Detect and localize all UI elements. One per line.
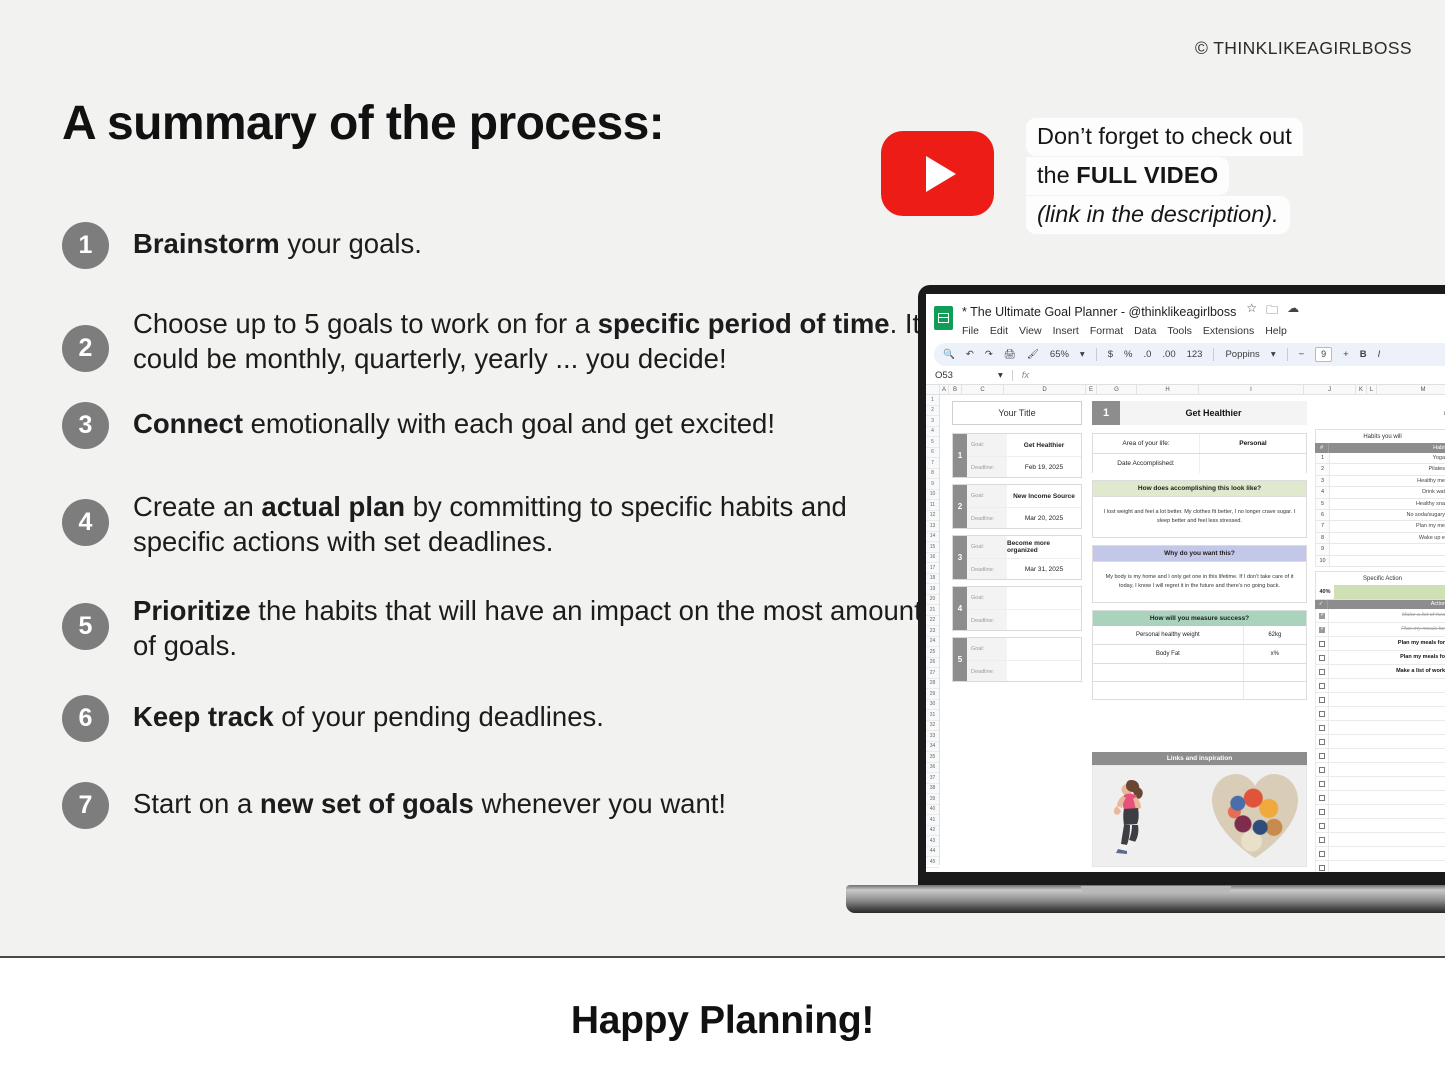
action-row[interactable] (1315, 735, 1445, 749)
action-checkbox[interactable] (1319, 767, 1325, 773)
actions-progress-bar (1334, 585, 1445, 599)
habit-row[interactable]: 1Yoga (1315, 453, 1445, 464)
action-text: Plan my meals for (1329, 637, 1445, 650)
deadline-value[interactable] (1007, 609, 1081, 631)
menu-bar: File Edit View Insert Format Data Tools … (962, 325, 1299, 337)
action-text: Plan my meals for (1329, 623, 1445, 636)
metric-name[interactable]: Personal healthy weight (1093, 626, 1243, 644)
habit-row[interactable]: 5Healthy sna (1315, 499, 1445, 510)
deadline-value[interactable]: Mar 31, 2025 (1007, 558, 1081, 580)
runner-illustration-icon (1107, 778, 1151, 858)
step-text-7: Start on a new set of goals whenever you… (133, 782, 726, 821)
habit-name (1330, 556, 1445, 566)
goal-value[interactable]: Become more organized (1007, 536, 1081, 558)
row-header-3[interactable]: 3 (926, 416, 939, 427)
paint-format-icon[interactable]: 🖌 (1027, 349, 1039, 360)
laptop-trackpad-notch (1081, 886, 1231, 893)
question-3-header: How will you measure success? (1092, 610, 1307, 626)
goal-value[interactable]: New Income Source (1007, 485, 1081, 507)
goal-card-3[interactable]: 3 Goal: Deadline: Become more organized … (952, 535, 1082, 580)
font-size-input[interactable]: 9 (1315, 347, 1332, 362)
menu-extensions[interactable]: Extensions (1203, 325, 1254, 337)
question-2-answer[interactable]: My body is my home and I only get one in… (1092, 561, 1307, 603)
step-number-2: 2 (62, 325, 109, 372)
area-of-life-label: Area of your life: (1093, 434, 1199, 453)
row-header-43[interactable]: 43 (926, 836, 939, 847)
question-2-header: Why do you want this? (1092, 545, 1307, 561)
action-checkbox[interactable] (1319, 795, 1325, 801)
step-item-3: 3 Connect emotionally with each goal and… (62, 402, 942, 449)
action-row[interactable]: Plan my meals for (1315, 637, 1445, 651)
goal-label: Goal: (967, 536, 1007, 558)
row-header-5[interactable]: 5 (926, 437, 939, 448)
goal-card-number: 3 (953, 536, 967, 579)
goal-card-4[interactable]: 4 Goal: Deadline: (952, 586, 1082, 631)
callout-line-3: (link in the description). (1026, 196, 1290, 234)
cloud-saved-icon[interactable]: ☁ (1287, 301, 1299, 322)
step-number-5: 5 (62, 603, 109, 650)
row-header-23[interactable]: 23 (926, 626, 939, 637)
sheets-title-bar: * The Ultimate Goal Planner - @thinklike… (926, 294, 1445, 337)
name-box-row: O53 ▾ fx (926, 366, 1445, 384)
action-row[interactable] (1315, 707, 1445, 721)
action-text: Make a list of work (1329, 665, 1445, 678)
habit-row[interactable]: 2Pilates (1315, 464, 1445, 475)
page-title: A summary of the process: (62, 96, 664, 151)
decrease-decimal-button[interactable]: .0 (1143, 349, 1151, 360)
habit-row[interactable]: 6No soda/sugary (1315, 510, 1445, 521)
column-header-M[interactable]: M (1377, 385, 1445, 394)
row-header-7[interactable]: 7 (926, 458, 939, 469)
move-to-folder-icon[interactable]: 🗀 (1266, 301, 1278, 322)
sheet-content: Your Title 1 Get Healthier Deadline Days… (940, 395, 1445, 865)
goal-value[interactable] (1007, 587, 1081, 609)
step-text-5: Prioritize the habits that will have an … (133, 589, 933, 663)
decrease-font-size-button[interactable]: − (1299, 349, 1305, 360)
row-header-36[interactable]: 36 (926, 763, 939, 774)
redo-icon[interactable]: ↷ (985, 349, 993, 360)
column-header-E[interactable]: E (1086, 385, 1097, 394)
action-row[interactable] (1315, 763, 1445, 777)
row-header-22[interactable]: 22 (926, 616, 939, 627)
row-header-35[interactable]: 35 (926, 752, 939, 763)
column-header-G[interactable]: G (1097, 385, 1137, 394)
column-header-J[interactable]: J (1304, 385, 1356, 394)
row-header-9[interactable]: 9 (926, 479, 939, 490)
habit-row[interactable]: 4Drink wat (1315, 487, 1445, 498)
callout-line-2: the FULL VIDEO (1026, 157, 1229, 195)
action-checkbox[interactable] (1319, 627, 1325, 633)
metric-row-3[interactable] (1092, 664, 1307, 682)
full-video-emphasis: FULL VIDEO (1076, 162, 1218, 188)
toolbar-divider (1096, 348, 1097, 361)
action-checkbox[interactable] (1319, 725, 1325, 731)
deadline-label: Deadline: (967, 456, 1007, 478)
habit-row[interactable]: 10 (1315, 556, 1445, 567)
row-header-34[interactable]: 34 (926, 742, 939, 753)
menu-insert[interactable]: Insert (1053, 325, 1079, 337)
habit-name: Pilates (1330, 464, 1445, 474)
action-row[interactable] (1315, 819, 1445, 833)
row-header-15[interactable]: 15 (926, 542, 939, 553)
goal-card-number: 2 (953, 485, 967, 528)
action-text (1329, 679, 1445, 692)
sheets-logo-icon (934, 306, 953, 330)
laptop-mockup: * The Ultimate Goal Planner - @thinklike… (846, 285, 1445, 925)
column-headers: A B C D E G H I J K L M (926, 385, 1445, 395)
row-header-1[interactable]: 1 (926, 395, 939, 406)
action-checkbox[interactable] (1319, 711, 1325, 717)
youtube-play-icon[interactable] (881, 131, 994, 216)
your-title-cell[interactable]: Your Title (952, 401, 1082, 425)
actions-panel-title: Specific Action (1315, 571, 1445, 585)
print-icon[interactable]: 🖨 (1004, 349, 1016, 360)
action-checkbox[interactable] (1319, 837, 1325, 843)
row-header-45[interactable]: 45 (926, 857, 939, 868)
row-header-32[interactable]: 32 (926, 721, 939, 732)
row-header-8[interactable]: 8 (926, 469, 939, 480)
goal-card-5[interactable]: 5 Goal: Deadline: (952, 637, 1082, 682)
action-checkbox[interactable] (1319, 641, 1325, 647)
document-title[interactable]: * The Ultimate Goal Planner - @thinklike… (962, 301, 1299, 322)
row-header-12[interactable]: 12 (926, 511, 939, 522)
row-header-33[interactable]: 33 (926, 731, 939, 742)
youtube-button[interactable] (881, 131, 994, 216)
action-row[interactable]: Plan my meals fo (1315, 651, 1445, 665)
undo-icon[interactable]: ↶ (966, 349, 974, 360)
metric-row-2: Body Fat x% (1092, 645, 1307, 664)
italic-button[interactable]: I (1378, 349, 1381, 360)
star-icon[interactable]: ☆ (1246, 301, 1257, 322)
date-accomplished-row: Date Accomplished: (1092, 453, 1307, 473)
actions-col-action: Action (1328, 600, 1445, 609)
habits-col-name: Habit (1329, 443, 1445, 453)
action-row[interactable] (1315, 721, 1445, 735)
action-text: Make a list of hea (1329, 609, 1445, 622)
row-header-17[interactable]: 17 (926, 563, 939, 574)
row-header-40[interactable]: 40 (926, 805, 939, 816)
column-header-D[interactable]: D (1004, 385, 1086, 394)
row-header-27[interactable]: 27 (926, 668, 939, 679)
habits-table-header: # Habit (1315, 443, 1445, 453)
selected-goal-title: Get Healthier (1120, 401, 1307, 425)
deadline-label: Deadline (1410, 399, 1445, 411)
goal-card-1[interactable]: 1 Goal: Deadline: Get Healthier Feb 19, … (952, 433, 1082, 478)
row-header-31[interactable]: 31 (926, 710, 939, 721)
action-text: Plan my meals fo (1329, 651, 1445, 664)
habit-row[interactable]: 7Plan my me (1315, 521, 1445, 532)
step-number-1: 1 (62, 222, 109, 269)
row-header-4[interactable]: 4 (926, 427, 939, 438)
row-header-20[interactable]: 20 (926, 595, 939, 606)
metric-row-4[interactable] (1092, 682, 1307, 700)
metric-name[interactable]: Body Fat (1093, 645, 1243, 663)
zoom-level[interactable]: 65% (1050, 349, 1069, 360)
metric-value[interactable]: 62kg (1243, 626, 1306, 644)
steps-list: 1 Brainstorm your goals. 2 Choose up to … (62, 222, 942, 843)
sheets-toolbar: 🔍 ↶ ↷ 🖨 🖌 65% ▾ $ % .0 .00 123 Poppins ▾ (934, 343, 1445, 366)
toolbar-divider-2 (1213, 348, 1214, 361)
action-row[interactable]: Make a list of hea (1315, 609, 1445, 623)
increase-decimal-button[interactable]: .00 (1162, 349, 1175, 360)
video-callout: Don’t forget to check out the FULL VIDEO… (1026, 118, 1386, 235)
goal-label: Goal: (967, 485, 1007, 507)
footer-banner: Happy Planning! (0, 956, 1445, 1084)
habit-name: Healthy me (1330, 476, 1445, 486)
menu-file[interactable]: File (962, 325, 979, 337)
increase-font-size-button[interactable]: + (1343, 349, 1349, 360)
column-header-K[interactable]: K (1356, 385, 1367, 394)
menu-tools[interactable]: Tools (1167, 325, 1192, 337)
step-item-7: 7 Start on a new set of goals whenever y… (62, 782, 942, 829)
currency-format-button[interactable]: $ (1108, 349, 1113, 360)
goal-label: Goal: (967, 638, 1007, 660)
menu-edit[interactable]: Edit (990, 325, 1008, 337)
step-item-4: 4 Create an actual plan by committing to… (62, 485, 942, 559)
footer-text: Happy Planning! (571, 999, 874, 1043)
deadline-label: Deadline: (967, 558, 1007, 580)
action-checkbox[interactable] (1319, 753, 1325, 759)
action-checkbox[interactable] (1319, 865, 1325, 871)
name-box-chevron-down-icon[interactable]: ▾ (998, 370, 1003, 381)
column-header-H[interactable]: H (1137, 385, 1199, 394)
action-checkbox[interactable] (1319, 697, 1325, 703)
column-header-A[interactable]: A (940, 385, 949, 394)
goal-card-2[interactable]: 2 Goal: Deadline: New Income Source Mar … (952, 484, 1082, 529)
action-row[interactable] (1315, 749, 1445, 763)
goal-label: Goal: (967, 434, 1007, 456)
action-row[interactable] (1315, 805, 1445, 819)
step-text-4: Create an actual plan by committing to s… (133, 485, 933, 559)
goal-value[interactable]: Get Healthier (1007, 434, 1081, 456)
row-header-37[interactable]: 37 (926, 773, 939, 784)
action-row[interactable] (1315, 777, 1445, 791)
area-of-life-value[interactable]: Personal (1199, 434, 1306, 453)
step-item-6: 6 Keep track of your pending deadlines. (62, 695, 942, 742)
column-header-I[interactable]: I (1199, 385, 1304, 394)
action-checkbox[interactable] (1319, 613, 1325, 619)
menu-help[interactable]: Help (1265, 325, 1287, 337)
habit-name: No soda/sugary (1330, 510, 1445, 520)
row-header-41[interactable]: 41 (926, 815, 939, 826)
font-chevron-down-icon[interactable]: ▾ (1271, 349, 1276, 360)
percent-format-button[interactable]: % (1124, 349, 1132, 360)
deadline-label: Deadline: (967, 660, 1007, 682)
row-header-10[interactable]: 10 (926, 490, 939, 501)
menu-data[interactable]: Data (1134, 325, 1156, 337)
goal-card-number: 4 (953, 587, 967, 630)
formula-fx-icon: fx (1022, 370, 1029, 381)
links-inspiration-header: Links and inspiration (1092, 752, 1307, 765)
action-row[interactable] (1315, 693, 1445, 707)
actions-panel: Specific Action 40% ✓ Action Make a list… (1315, 571, 1445, 872)
question-1-answer[interactable]: I lost weight and feel a lot better. My … (1092, 496, 1307, 538)
action-row[interactable] (1315, 861, 1445, 872)
row-header-26[interactable]: 26 (926, 658, 939, 669)
goal-label: Goal: (967, 587, 1007, 609)
question-1-header: How does accomplishing this look like? (1092, 480, 1307, 496)
habit-row[interactable]: 9 (1315, 544, 1445, 555)
habits-panel-title: Habits you will (1315, 429, 1445, 443)
row-header-42[interactable]: 42 (926, 826, 939, 837)
step-item-1: 1 Brainstorm your goals. (62, 222, 942, 269)
row-header-13[interactable]: 13 (926, 521, 939, 532)
deadline-value[interactable]: Feb 19, 2025 (1007, 456, 1081, 478)
date-accomplished-value[interactable] (1199, 454, 1306, 473)
column-header-B[interactable]: B (949, 385, 962, 394)
action-row[interactable] (1315, 847, 1445, 861)
laptop-screen: * The Ultimate Goal Planner - @thinklike… (918, 285, 1445, 898)
action-checkbox[interactable] (1319, 669, 1325, 675)
font-family-selector[interactable]: Poppins (1225, 349, 1259, 360)
row-header-11[interactable]: 11 (926, 500, 939, 511)
deadline-value[interactable] (1007, 660, 1081, 682)
search-icon[interactable]: 🔍 (943, 349, 955, 360)
habit-row[interactable]: 3Healthy me (1315, 476, 1445, 487)
spreadsheet-grid[interactable]: A B C D E G H I J K L M 123456789 (926, 384, 1445, 864)
row-header-44[interactable]: 44 (926, 847, 939, 858)
row-header-18[interactable]: 18 (926, 574, 939, 585)
days-left-label: Days Left (1410, 411, 1445, 423)
step-number-3: 3 (62, 402, 109, 449)
goal-card-number: 1 (953, 434, 967, 477)
goal-value[interactable] (1007, 638, 1081, 660)
goal-card-number: 5 (953, 638, 967, 681)
row-header-30[interactable]: 30 (926, 700, 939, 711)
step-text-2: Choose up to 5 goals to work on for a sp… (133, 302, 933, 376)
action-row[interactable]: Plan my meals for (1315, 623, 1445, 637)
habit-name: Yoga (1330, 453, 1445, 463)
row-header-29[interactable]: 29 (926, 689, 939, 700)
habits-panel: Habits you will # Habit 1Yoga 2Pilates 3… (1315, 429, 1445, 567)
menu-format[interactable]: Format (1090, 325, 1123, 337)
habit-name: Drink wat (1330, 487, 1445, 497)
action-row[interactable]: Make a list of work (1315, 665, 1445, 679)
toolbar-divider-3 (1287, 348, 1288, 361)
column-header-L[interactable]: L (1367, 385, 1377, 394)
step-text-6: Keep track of your pending deadlines. (133, 695, 604, 734)
namebox-divider (1012, 370, 1013, 381)
row-header-19[interactable]: 19 (926, 584, 939, 595)
habit-name (1330, 544, 1445, 554)
deadline-label: Deadline: (967, 609, 1007, 631)
deadline-label: Deadline: (967, 507, 1007, 529)
habit-row[interactable]: 8Wake up e (1315, 533, 1445, 544)
healthy-food-bowl-image (1212, 774, 1298, 860)
action-text (1329, 707, 1445, 720)
row-header-16[interactable]: 16 (926, 553, 939, 564)
bold-button[interactable]: B (1360, 349, 1367, 360)
actions-progress-percent: 40% (1316, 589, 1334, 595)
action-checkbox[interactable] (1319, 781, 1325, 787)
callout-line-1: Don’t forget to check out (1026, 118, 1303, 156)
action-row[interactable] (1315, 791, 1445, 805)
row-header-24[interactable]: 24 (926, 637, 939, 648)
selected-goal-number: 1 (1092, 401, 1120, 425)
habit-name: Healthy sna (1330, 499, 1445, 509)
row-header-28[interactable]: 28 (926, 679, 939, 690)
row-header-21[interactable]: 21 (926, 605, 939, 616)
deadline-value[interactable]: Mar 20, 2025 (1007, 507, 1081, 529)
action-row[interactable] (1315, 679, 1445, 693)
menu-view[interactable]: View (1019, 325, 1042, 337)
row-header-6[interactable]: 6 (926, 448, 939, 459)
deadline-headers: Deadline Days Left (1410, 399, 1445, 423)
step-item-5: 5 Prioritize the habits that will have a… (62, 589, 942, 663)
habits-col-number: # (1315, 443, 1329, 453)
action-checkbox[interactable] (1319, 809, 1325, 815)
step-item-2: 2 Choose up to 5 goals to work on for a … (62, 302, 942, 376)
actions-col-check: ✓ (1315, 600, 1328, 609)
goal-detail-panel: Area of your life: Personal Date Accompl… (1092, 433, 1307, 700)
row-header-39[interactable]: 39 (926, 794, 939, 805)
date-accomplished-label: Date Accomplished: (1093, 454, 1199, 473)
metric-row-1: Personal healthy weight 62kg (1092, 626, 1307, 645)
action-row[interactable] (1315, 833, 1445, 847)
action-checkbox[interactable] (1319, 683, 1325, 689)
action-checkbox[interactable] (1319, 655, 1325, 661)
slide-canvas: © THINKLIKEAGIRLBOSS A summary of the pr… (0, 0, 1445, 956)
copyright-text: © THINKLIKEAGIRLBOSS (1195, 38, 1412, 59)
action-checkbox[interactable] (1319, 823, 1325, 829)
step-number-6: 6 (62, 695, 109, 742)
action-checkbox[interactable] (1319, 851, 1325, 857)
row-headers[interactable]: 1234567891011121314151617181920212223242… (926, 395, 940, 865)
metric-value[interactable]: x% (1243, 645, 1306, 663)
actions-progress: 40% (1315, 585, 1445, 600)
action-checkbox[interactable] (1319, 739, 1325, 745)
area-of-life-row: Area of your life: Personal (1092, 433, 1307, 453)
play-triangle-icon (926, 156, 956, 192)
corner-select-all[interactable] (926, 385, 940, 394)
row-header-25[interactable]: 25 (926, 647, 939, 658)
habit-name: Wake up e (1330, 533, 1445, 543)
step-text-3: Connect emotionally with each goal and g… (133, 402, 775, 441)
habit-name: Plan my me (1330, 521, 1445, 531)
more-formats-button[interactable]: 123 (1187, 349, 1203, 360)
action-text (1329, 693, 1445, 706)
row-header-38[interactable]: 38 (926, 784, 939, 795)
step-text-1: Brainstorm your goals. (133, 222, 422, 261)
row-header-14[interactable]: 14 (926, 532, 939, 543)
step-number-7: 7 (62, 782, 109, 829)
column-header-C[interactable]: C (962, 385, 1004, 394)
step-number-4: 4 (62, 499, 109, 546)
inspiration-photo[interactable] (1092, 765, 1307, 867)
row-header-2[interactable]: 2 (926, 406, 939, 417)
name-box[interactable]: O53 (935, 370, 989, 381)
zoom-chevron-down-icon[interactable]: ▾ (1080, 349, 1085, 360)
google-sheets-window: * The Ultimate Goal Planner - @thinklike… (926, 294, 1445, 872)
actions-table-header: ✓ Action (1315, 600, 1445, 609)
